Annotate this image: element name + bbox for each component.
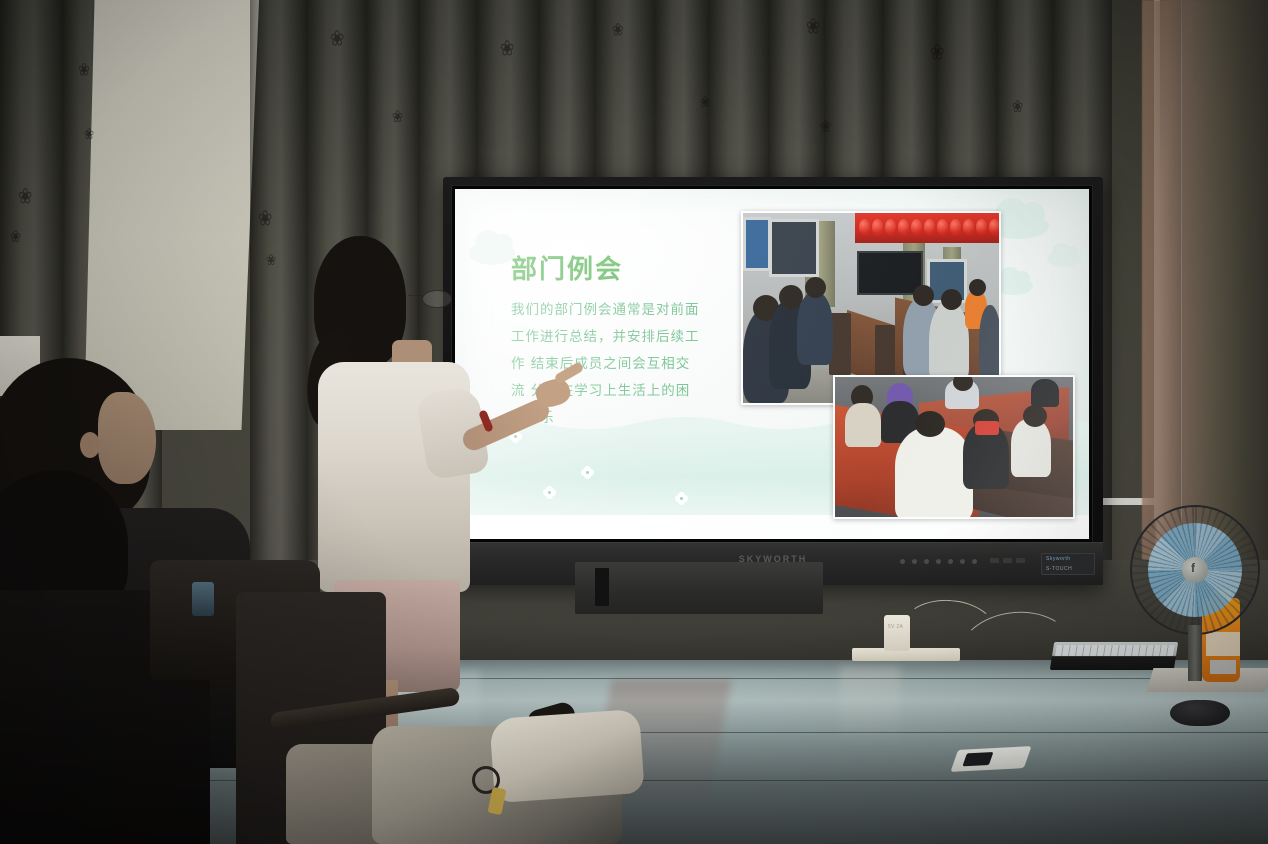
volume-up-button[interactable] [948, 559, 953, 564]
window-curtain-inner [1142, 0, 1182, 560]
display-buttons[interactable] [900, 559, 977, 564]
hdmi-port[interactable] [1003, 558, 1012, 563]
bottle-label [1206, 632, 1240, 656]
meeting-photo-bottom [833, 375, 1075, 519]
backpack-flap [489, 709, 644, 803]
keyboard[interactable] [1050, 642, 1178, 670]
badge-bottom-label: S-TOUCH [1046, 566, 1072, 572]
audio-port[interactable] [1016, 558, 1025, 563]
glasses-icon [422, 290, 452, 308]
power-button[interactable] [900, 559, 905, 564]
display-wall-mount [575, 562, 823, 614]
slide-body-line: 工作进行总结，并安排后续工 [511, 324, 747, 351]
presentation-slide[interactable]: 部门例会 我们的部门例会通常是对前面 工作进行总结，并安排后续工 作 结束后成员… [455, 189, 1089, 539]
volume-down-button[interactable] [936, 559, 941, 564]
mobile-phone[interactable] [950, 746, 1031, 772]
display-ports[interactable] [990, 558, 1025, 563]
display-brand-badge: Skyworth S-TOUCH [1041, 553, 1095, 575]
slide-body-line: 作 结束后成员之间会互相交 [511, 351, 747, 378]
flower-decoration [583, 468, 592, 477]
badge-top-label: Skyworth [1046, 556, 1071, 562]
red-scarf [975, 421, 999, 435]
home-button[interactable] [972, 559, 977, 564]
interactive-flat-panel[interactable]: 部门例会 我们的部门例会通常是对前面 工作进行总结，并安排后续工 作 结束后成员… [443, 177, 1103, 585]
electric-fan[interactable]: f [1130, 505, 1260, 635]
fan-post [1188, 625, 1202, 681]
classroom-presentation-scene: ❀ ❀ ❀ ❀ ❀ ❀ ❀ ❀ ❀ ❀ ❀ ❀ ❀ ❀ ❀ ❀ ❀ ❀ [0, 0, 1268, 844]
backpack[interactable] [372, 700, 672, 844]
desk-puck-object [1170, 700, 1230, 726]
wall-tv-in-photo [857, 251, 923, 295]
slide-title: 部门例会 [511, 249, 623, 286]
flower-decoration [677, 494, 686, 503]
bottle-label-secondary [1210, 660, 1236, 674]
channel-button[interactable] [960, 559, 965, 564]
menu-button[interactable] [924, 559, 929, 564]
flower-decoration [545, 488, 554, 497]
usb-port[interactable] [990, 558, 999, 563]
source-button[interactable] [912, 559, 917, 564]
desk-reflection [840, 666, 900, 746]
slide-body-line: 我们的部门例会通常是对前面 [511, 297, 747, 324]
cloud-decoration [1047, 251, 1081, 267]
fan-hub: f [1182, 557, 1208, 583]
student-ear [80, 432, 100, 458]
